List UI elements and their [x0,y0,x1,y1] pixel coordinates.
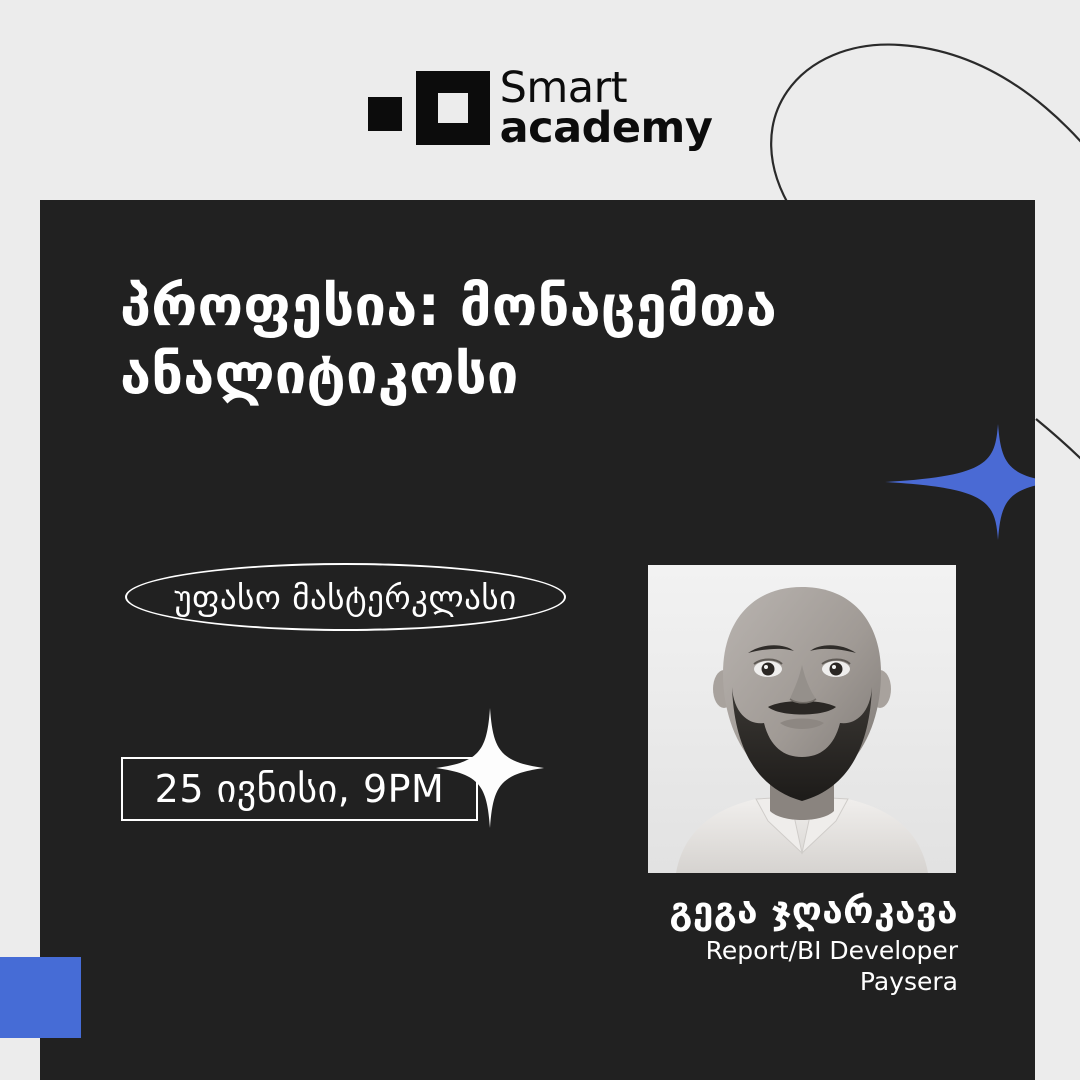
logo-inner-square [438,93,468,123]
portrait-illustration [648,565,956,873]
page-title: პროფესია: მონაცემთა ანალიტიკოსი [120,273,910,410]
logo-small-square [368,97,402,131]
four-point-star-icon-blue [885,422,1035,542]
content-panel: პროფესია: მონაცემთა ანალიტიკოსი უფასო მა… [40,200,1035,1080]
speaker-photo [648,565,956,873]
date-label: 25 ივნისი, 9PM [155,767,445,811]
speaker-company: Paysera [548,967,958,998]
two-squares-logo-icon [368,71,478,145]
date-badge: 25 ივნისი, 9PM [121,757,478,821]
status-badge: უფასო მასტერკლასი [125,563,566,631]
brand-wordmark: Smart academy [500,68,713,149]
brand-name-bottom: academy [500,108,713,148]
brand-logo: Smart academy [0,68,1080,149]
speaker-name: გეგა ჯღარკავა [548,890,958,931]
poster-canvas: Smart academy პროფესია: მონაცემთა ანალიტ… [0,0,1080,1080]
badge-label: უფასო მასტერკლასი [174,578,516,617]
speaker-info: გეგა ჯღარკავა Report/BI Developer Payser… [548,890,958,997]
square-accent-icon [0,957,81,1038]
brand-name-top: Smart [500,68,713,108]
speaker-role: Report/BI Developer [548,936,958,967]
four-point-star-icon-white [436,708,544,828]
